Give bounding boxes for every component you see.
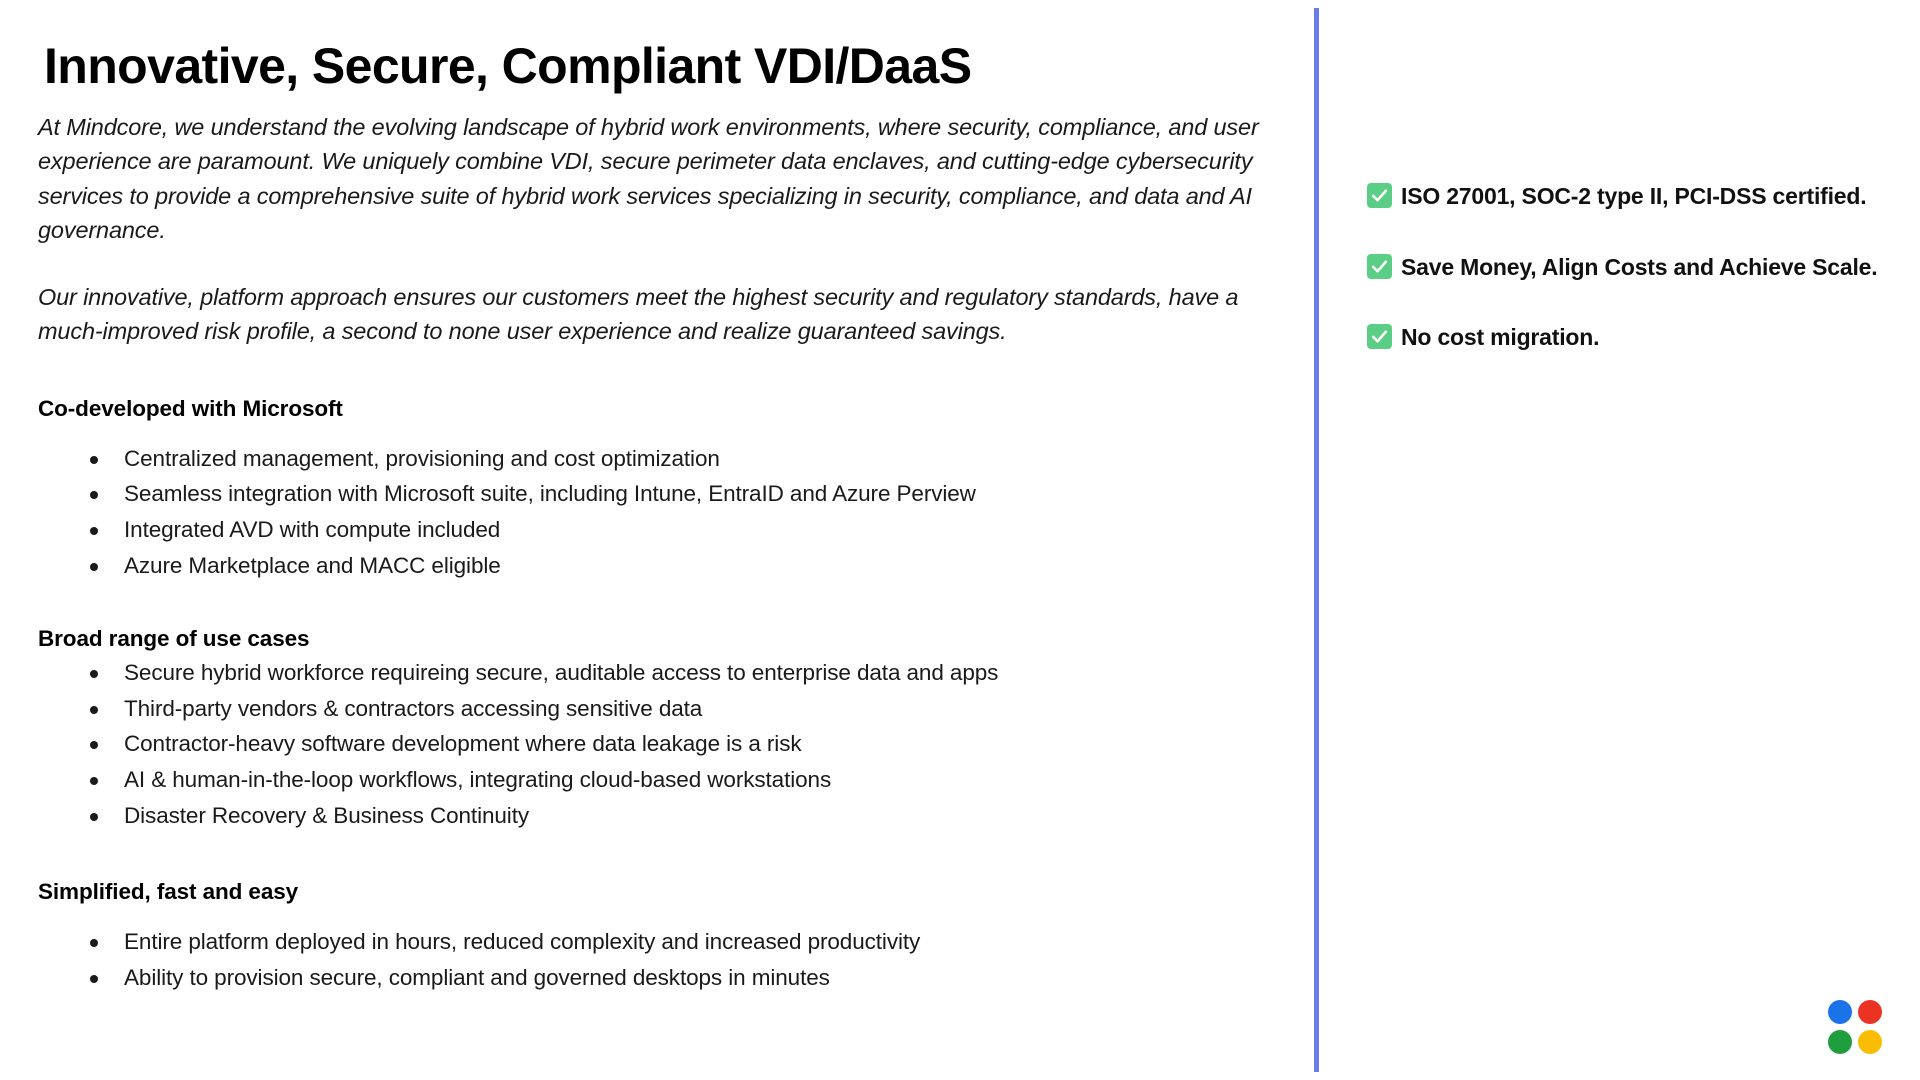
list-item-label: Ability to provision secure, compliant a… — [124, 965, 830, 990]
list-item-label: AI & human-in-the-loop workflows, integr… — [124, 767, 831, 792]
check-square-icon — [1367, 324, 1392, 349]
checklist-item-label: Save Money, Align Costs and Achieve Scal… — [1401, 254, 1877, 280]
list-item-label: Disaster Recovery & Business Continuity — [124, 803, 529, 828]
list-item: Seamless integration with Microsoft suit… — [38, 479, 1267, 510]
bullet-list-use-cases: Secure hybrid workforce requireing secur… — [38, 658, 1267, 831]
list-item-label: Contractor-heavy software development wh… — [124, 731, 802, 756]
section-heading-simplified-fast-and-easy: Simplified, fast and easy — [38, 879, 1267, 905]
logo-dot-blue-icon — [1828, 1000, 1852, 1024]
right-content-column: ISO 27001, SOC-2 type II, PCI-DSS certif… — [1319, 0, 1920, 1080]
bullet-dot-icon — [90, 491, 98, 499]
bullet-dot-icon — [90, 939, 98, 947]
list-item: Centralized management, provisioning and… — [38, 444, 1267, 475]
bullet-dot-icon — [90, 670, 98, 678]
list-item: AI & human-in-the-loop workflows, integr… — [38, 765, 1267, 796]
logo-dot-red-icon — [1858, 1000, 1882, 1024]
list-item-label: Secure hybrid workforce requireing secur… — [124, 660, 998, 685]
section-heading-broad-range-of-use-cases: Broad range of use cases — [38, 626, 1267, 652]
list-item: Integrated AVD with compute included — [38, 515, 1267, 546]
page-title: Innovative, Secure, Compliant VDI/DaaS — [44, 38, 1267, 94]
list-item: Secure hybrid workforce requireing secur… — [38, 658, 1267, 689]
bullet-dot-icon — [90, 706, 98, 714]
checklist-item: No cost migration. — [1367, 321, 1912, 354]
four-dot-logo — [1828, 1000, 1884, 1056]
check-square-icon — [1367, 183, 1392, 208]
list-item: Contractor-heavy software development wh… — [38, 729, 1267, 760]
intro-paragraph-2: Our innovative, platform approach ensure… — [38, 280, 1267, 349]
logo-dot-yellow-icon — [1858, 1030, 1882, 1054]
checklist-item-label: No cost migration. — [1401, 324, 1599, 350]
list-item-label: Azure Marketplace and MACC eligible — [124, 553, 501, 578]
bullet-dot-icon — [90, 456, 98, 464]
bullet-dot-icon — [90, 563, 98, 571]
list-item: Entire platform deployed in hours, reduc… — [38, 927, 1267, 958]
list-item: Ability to provision secure, compliant a… — [38, 963, 1267, 994]
section-heading-co-developed-with-microsoft: Co-developed with Microsoft — [38, 396, 1267, 422]
bullet-dot-icon — [90, 975, 98, 983]
check-square-icon — [1367, 254, 1392, 279]
checklist-item-label: ISO 27001, SOC-2 type II, PCI-DSS certif… — [1401, 183, 1866, 209]
bullet-dot-icon — [90, 813, 98, 821]
checklist-item: ISO 27001, SOC-2 type II, PCI-DSS certif… — [1367, 180, 1912, 213]
bullet-list-simplified: Entire platform deployed in hours, reduc… — [38, 927, 1267, 993]
list-item-label: Seamless integration with Microsoft suit… — [124, 481, 976, 506]
list-item-label: Entire platform deployed in hours, reduc… — [124, 929, 920, 954]
intro-paragraph-1: At Mindcore, we understand the evolving … — [38, 110, 1267, 247]
bullet-list-microsoft: Centralized management, provisioning and… — [38, 444, 1267, 581]
list-item: Disaster Recovery & Business Continuity — [38, 801, 1267, 832]
bullet-dot-icon — [90, 741, 98, 749]
list-item-label: Third-party vendors & contractors access… — [124, 696, 702, 721]
list-item: Azure Marketplace and MACC eligible — [38, 551, 1267, 582]
list-item-label: Integrated AVD with compute included — [124, 517, 500, 542]
list-item: Third-party vendors & contractors access… — [38, 694, 1267, 725]
checklist-item: Save Money, Align Costs and Achieve Scal… — [1367, 251, 1912, 284]
list-item-label: Centralized management, provisioning and… — [124, 446, 720, 471]
bullet-dot-icon — [90, 777, 98, 785]
slide-root: Innovative, Secure, Compliant VDI/DaaS A… — [0, 0, 1920, 1080]
bullet-dot-icon — [90, 527, 98, 535]
benefits-checklist: ISO 27001, SOC-2 type II, PCI-DSS certif… — [1367, 180, 1912, 354]
left-content-column: Innovative, Secure, Compliant VDI/DaaS A… — [0, 0, 1305, 1080]
logo-dot-green-icon — [1828, 1030, 1852, 1054]
